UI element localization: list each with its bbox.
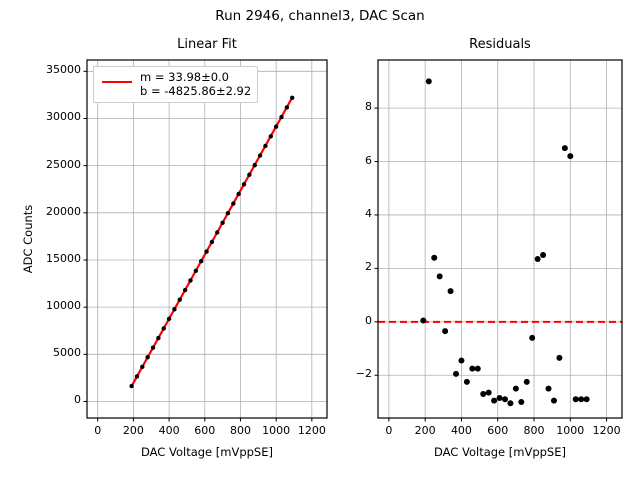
y-tick-label: 2 <box>316 260 372 273</box>
data-point <box>475 366 481 372</box>
y-tick-label: 10000 <box>25 299 81 312</box>
data-point <box>437 273 443 279</box>
data-point <box>480 391 486 397</box>
data-point <box>507 400 513 406</box>
data-point <box>573 396 579 402</box>
data-point <box>458 358 464 364</box>
data-point <box>584 396 590 402</box>
x-tick-label: 1200 <box>282 424 342 437</box>
data-point <box>464 379 470 385</box>
data-point <box>578 396 584 402</box>
y-tick-label: 25000 <box>25 158 81 171</box>
data-point <box>546 386 552 392</box>
y-tick-label: 20000 <box>25 205 81 218</box>
data-point <box>442 328 448 334</box>
data-point <box>551 398 557 404</box>
y-tick-label: 0 <box>316 314 372 327</box>
data-point <box>562 145 568 151</box>
y-tick-label: 15000 <box>25 252 81 265</box>
data-point <box>486 390 492 396</box>
data-point <box>497 395 503 401</box>
x-tick-label: 1200 <box>577 424 637 437</box>
data-point <box>469 366 475 372</box>
data-point <box>420 317 426 323</box>
y-tick-label: −2 <box>316 367 372 380</box>
data-point <box>453 371 459 377</box>
data-point <box>426 78 432 84</box>
data-point <box>502 396 508 402</box>
y-tick-label: 30000 <box>25 110 81 123</box>
data-point <box>431 255 437 261</box>
y-tick-label: 35000 <box>25 63 81 76</box>
y-tick-label: 5000 <box>25 346 81 359</box>
data-point <box>567 153 573 159</box>
data-point <box>524 379 530 385</box>
y-tick-label: 8 <box>316 100 372 113</box>
data-point <box>529 335 535 341</box>
data-point <box>540 252 546 258</box>
data-point <box>518 399 524 405</box>
figure-canvas: Run 2946, channel3, DAC Scan Linear Fit … <box>0 0 640 480</box>
data-point <box>491 398 497 404</box>
y-tick-label: 6 <box>316 154 372 167</box>
data-point <box>513 386 519 392</box>
y-tick-label: 4 <box>316 207 372 220</box>
residuals-plot-area <box>0 0 640 480</box>
data-point <box>556 355 562 361</box>
data-point <box>448 288 454 294</box>
y-tick-label: 0 <box>25 393 81 406</box>
data-point <box>535 256 541 262</box>
